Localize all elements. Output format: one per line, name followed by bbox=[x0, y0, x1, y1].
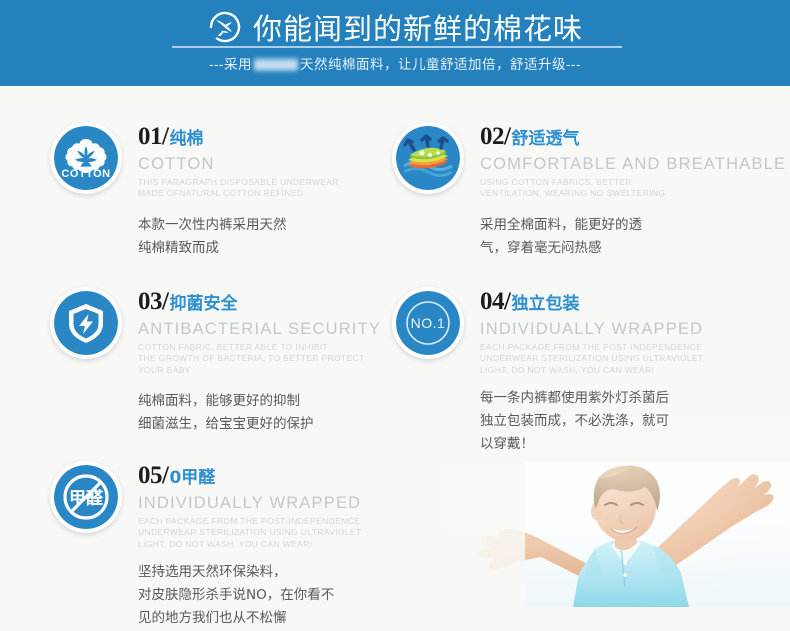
banner-title-row: 你能闻到的新鲜的棉花味 bbox=[0, 6, 790, 48]
desc-line: 气，穿着毫无闷热感 bbox=[480, 237, 786, 260]
desc-line: 细菌滋生，给宝宝更好的保护 bbox=[138, 413, 395, 436]
bird-swoosh-icon bbox=[207, 11, 243, 43]
en-line: THIS PARAGRAPH DISPOSABLE UNDERWEAR bbox=[138, 177, 395, 188]
feature-body: 02/舒适透气 COMFORTABLE AND BREATHABLE USING… bbox=[480, 122, 786, 260]
feature-body: 03/抑菌安全 ANTIBACTERIAL SECURITY COTTON FA… bbox=[138, 287, 395, 436]
feature-en-title: INDIVIDUALLY WRAPPED bbox=[480, 319, 742, 340]
en-line: EACH PACKAGE FROM THE POST-INDEPENDENCE bbox=[138, 516, 395, 527]
no-formaldehyde-icon: 甲醛 bbox=[50, 461, 122, 533]
svg-text:NO.1: NO.1 bbox=[411, 315, 446, 331]
feature-en-detail: EACH PACKAGE FROM THE POST-INDEPENDENCE … bbox=[138, 516, 395, 550]
en-line: VENTILATION, WEARING NO SWELTERING bbox=[480, 188, 786, 199]
feature-cn-title: 独立包装 bbox=[511, 294, 579, 314]
feature-cn-title: 抑菌安全 bbox=[169, 294, 237, 314]
desc-line: 对皮肤隐形杀手说NO，在你看不 bbox=[138, 584, 395, 607]
feature-block-03: 03/抑菌安全 ANTIBACTERIAL SECURITY COTTON FA… bbox=[50, 287, 395, 436]
desc-line: 本款一次性内裤采用天然 bbox=[138, 214, 395, 237]
en-line: YOUR BABY bbox=[138, 365, 395, 376]
en-line: USING COTTON FABRICS, BETTER bbox=[480, 177, 786, 188]
feature-en-detail: COTTON FABRIC, BETTER ABLE TO INHIBIT TH… bbox=[138, 342, 395, 376]
feature-block-04: NO.1 04/独立包装 INDIVIDUALLY WRAPPED EACH P… bbox=[392, 287, 742, 457]
feature-body: 05/0甲醛 INDIVIDUALLY WRAPPED EACH PACKAGE… bbox=[138, 461, 395, 631]
feature-en-title: ANTIBACTERIAL SECURITY bbox=[138, 319, 395, 340]
en-line: MADE OFNATURAL COTTON REFINED bbox=[138, 188, 395, 199]
feature-number: 03/ bbox=[138, 288, 168, 315]
number-one-badge-icon: NO.1 bbox=[392, 287, 464, 359]
feature-body: 04/独立包装 INDIVIDUALLY WRAPPED EACH PACKAG… bbox=[480, 287, 742, 457]
feature-block-05: 甲醛 05/0甲醛 INDIVIDUALLY WRAPPED EACH PACK… bbox=[50, 461, 395, 631]
svg-text:COTTON: COTTON bbox=[61, 168, 110, 180]
en-line: THE GROWTH OF BACTERIA, TO BETTER PROTEC… bbox=[138, 353, 395, 364]
feature-heading: 05/0甲醛 bbox=[138, 463, 395, 488]
feature-cn-title: 舒适透气 bbox=[511, 129, 579, 149]
cotton-boll-icon: COTTON bbox=[50, 122, 122, 194]
feature-heading: 02/舒适透气 bbox=[480, 124, 786, 149]
feature-cn-title: 纯棉 bbox=[169, 129, 203, 149]
feature-en-detail: THIS PARAGRAPH DISPOSABLE UNDERWEAR MADE… bbox=[138, 177, 395, 200]
subtitle-suffix: 天然纯棉面料，让儿童舒适加倍，舒适升级--- bbox=[300, 57, 581, 72]
feature-body: 01/纯棉 COTTON THIS PARAGRAPH DISPOSABLE U… bbox=[138, 122, 395, 260]
redacted-brand-name bbox=[254, 58, 298, 71]
feature-cn-title: 0甲醛 bbox=[169, 468, 215, 488]
feature-number: 01/ bbox=[138, 123, 168, 150]
breathable-fabric-icon bbox=[392, 122, 464, 194]
en-line: LIGHT, DO NOT WASH, YOU CAN WEAR! bbox=[138, 539, 395, 550]
desc-line: 见的地方我们也从不松懈 bbox=[138, 607, 395, 630]
feature-heading: 01/纯棉 bbox=[138, 124, 395, 149]
subtitle-prefix: ---采用 bbox=[209, 57, 252, 72]
feature-description: 采用全棉面料，能更好的透 气，穿着毫无闷热感 bbox=[480, 214, 786, 260]
header-banner: 你能闻到的新鲜的棉花味 ---采用天然纯棉面料，让儿童舒适加倍，舒适升级--- bbox=[0, 0, 790, 86]
feature-block-02: 02/舒适透气 COMFORTABLE AND BREATHABLE USING… bbox=[392, 122, 742, 260]
en-line: UNDERWEAR STERILIZATION USING ULTRAVIOLE… bbox=[138, 527, 395, 538]
feature-en-title: COMFORTABLE AND BREATHABLE bbox=[480, 154, 786, 175]
feature-description: 本款一次性内裤采用天然 纯棉精致而成 bbox=[138, 214, 395, 260]
page-title: 你能闻到的新鲜的棉花味 bbox=[253, 6, 583, 48]
desc-line: 坚持选用天然环保染料， bbox=[138, 561, 395, 584]
feature-description: 每一条内裤都使用紫外灯杀菌后 独立包装而成，不必洗涤，就可 以穿戴！ bbox=[480, 387, 742, 457]
feature-heading: 04/独立包装 bbox=[480, 289, 742, 314]
feature-en-detail: USING COTTON FABRICS, BETTER VENTILATION… bbox=[480, 177, 786, 200]
en-line: LIGHT, DO NOT WASH, YOU CAN WEAR! bbox=[480, 365, 742, 376]
feature-number: 05/ bbox=[138, 462, 168, 489]
feature-number: 02/ bbox=[480, 123, 510, 150]
desc-line: 每一条内裤都使用紫外灯杀菌后 bbox=[480, 387, 742, 410]
feature-description: 纯棉面料，能够更好的抑制 细菌滋生，给宝宝更好的保护 bbox=[138, 390, 395, 436]
shield-bolt-icon bbox=[50, 287, 122, 359]
feature-grid: COTTON 01/纯棉 COTTON THIS PARAGRAPH DISPO… bbox=[0, 86, 790, 607]
banner-divider bbox=[172, 46, 622, 48]
feature-description: 坚持选用天然环保染料， 对皮肤隐形杀手说NO，在你看不 见的地方我们也从不松懈 bbox=[138, 561, 395, 631]
feature-en-title: COTTON bbox=[138, 154, 395, 175]
desc-line: 采用全棉面料，能更好的透 bbox=[480, 214, 786, 237]
feature-en-title: INDIVIDUALLY WRAPPED bbox=[138, 493, 395, 514]
feature-en-detail: EACH PACKAGE FROM THE POST-INDEPENDENCE … bbox=[480, 342, 742, 376]
feature-heading: 03/抑菌安全 bbox=[138, 289, 395, 314]
en-line: EACH PACKAGE FROM THE POST-INDEPENDENCE bbox=[480, 342, 742, 353]
en-line: UNDERWEAR STERILIZATION USING ULTRAVIOLE… bbox=[480, 353, 742, 364]
desc-line: 以穿戴！ bbox=[480, 433, 742, 456]
feature-block-01: COTTON 01/纯棉 COTTON THIS PARAGRAPH DISPO… bbox=[50, 122, 395, 260]
desc-line: 独立包装而成，不必洗涤，就可 bbox=[480, 410, 742, 433]
feature-number: 04/ bbox=[480, 288, 510, 315]
banner-subtitle: ---采用天然纯棉面料，让儿童舒适加倍，舒适升级--- bbox=[0, 53, 790, 73]
desc-line: 纯棉精致而成 bbox=[138, 237, 395, 260]
desc-line: 纯棉面料，能够更好的抑制 bbox=[138, 390, 395, 413]
en-line: COTTON FABRIC, BETTER ABLE TO INHIBIT bbox=[138, 342, 395, 353]
